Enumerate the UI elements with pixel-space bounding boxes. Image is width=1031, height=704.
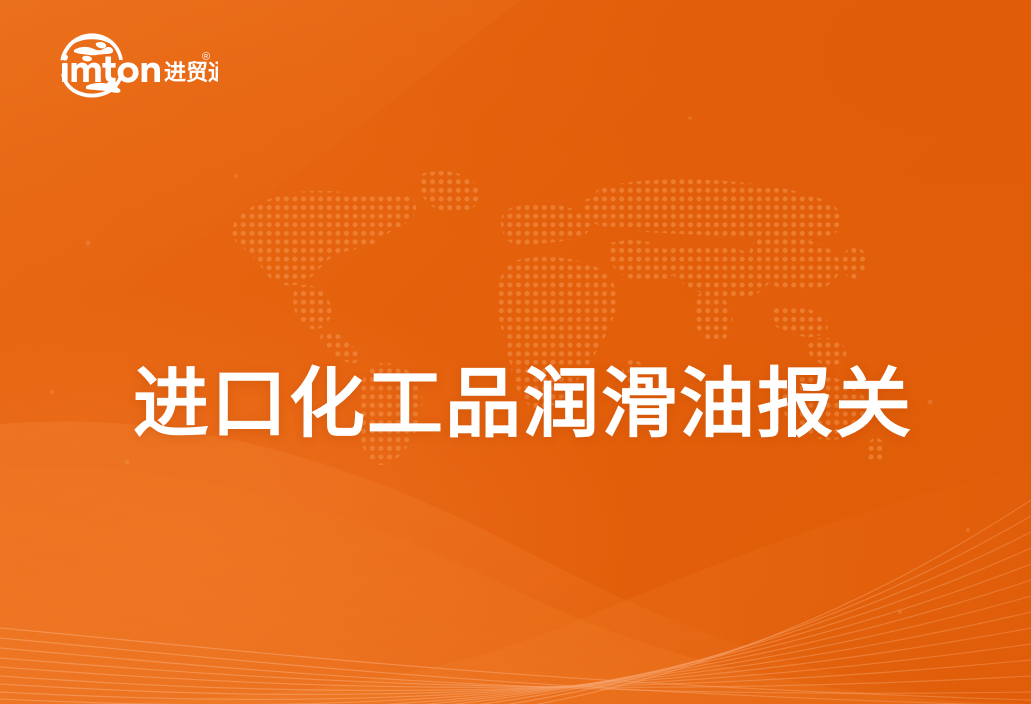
brand-wordmark-chinese: 进贸通 [164, 60, 218, 85]
promotional-banner: 进贸通 ® 进口化工品润滑油报关 [0, 0, 1031, 704]
page-title: 进口化工品润滑油报关 [133, 357, 923, 453]
brand-wordmark-latin [62, 54, 160, 82]
registered-trademark-icon: ® [202, 51, 210, 63]
brand-logo[interactable]: 进贸通 ® [42, 30, 218, 102]
